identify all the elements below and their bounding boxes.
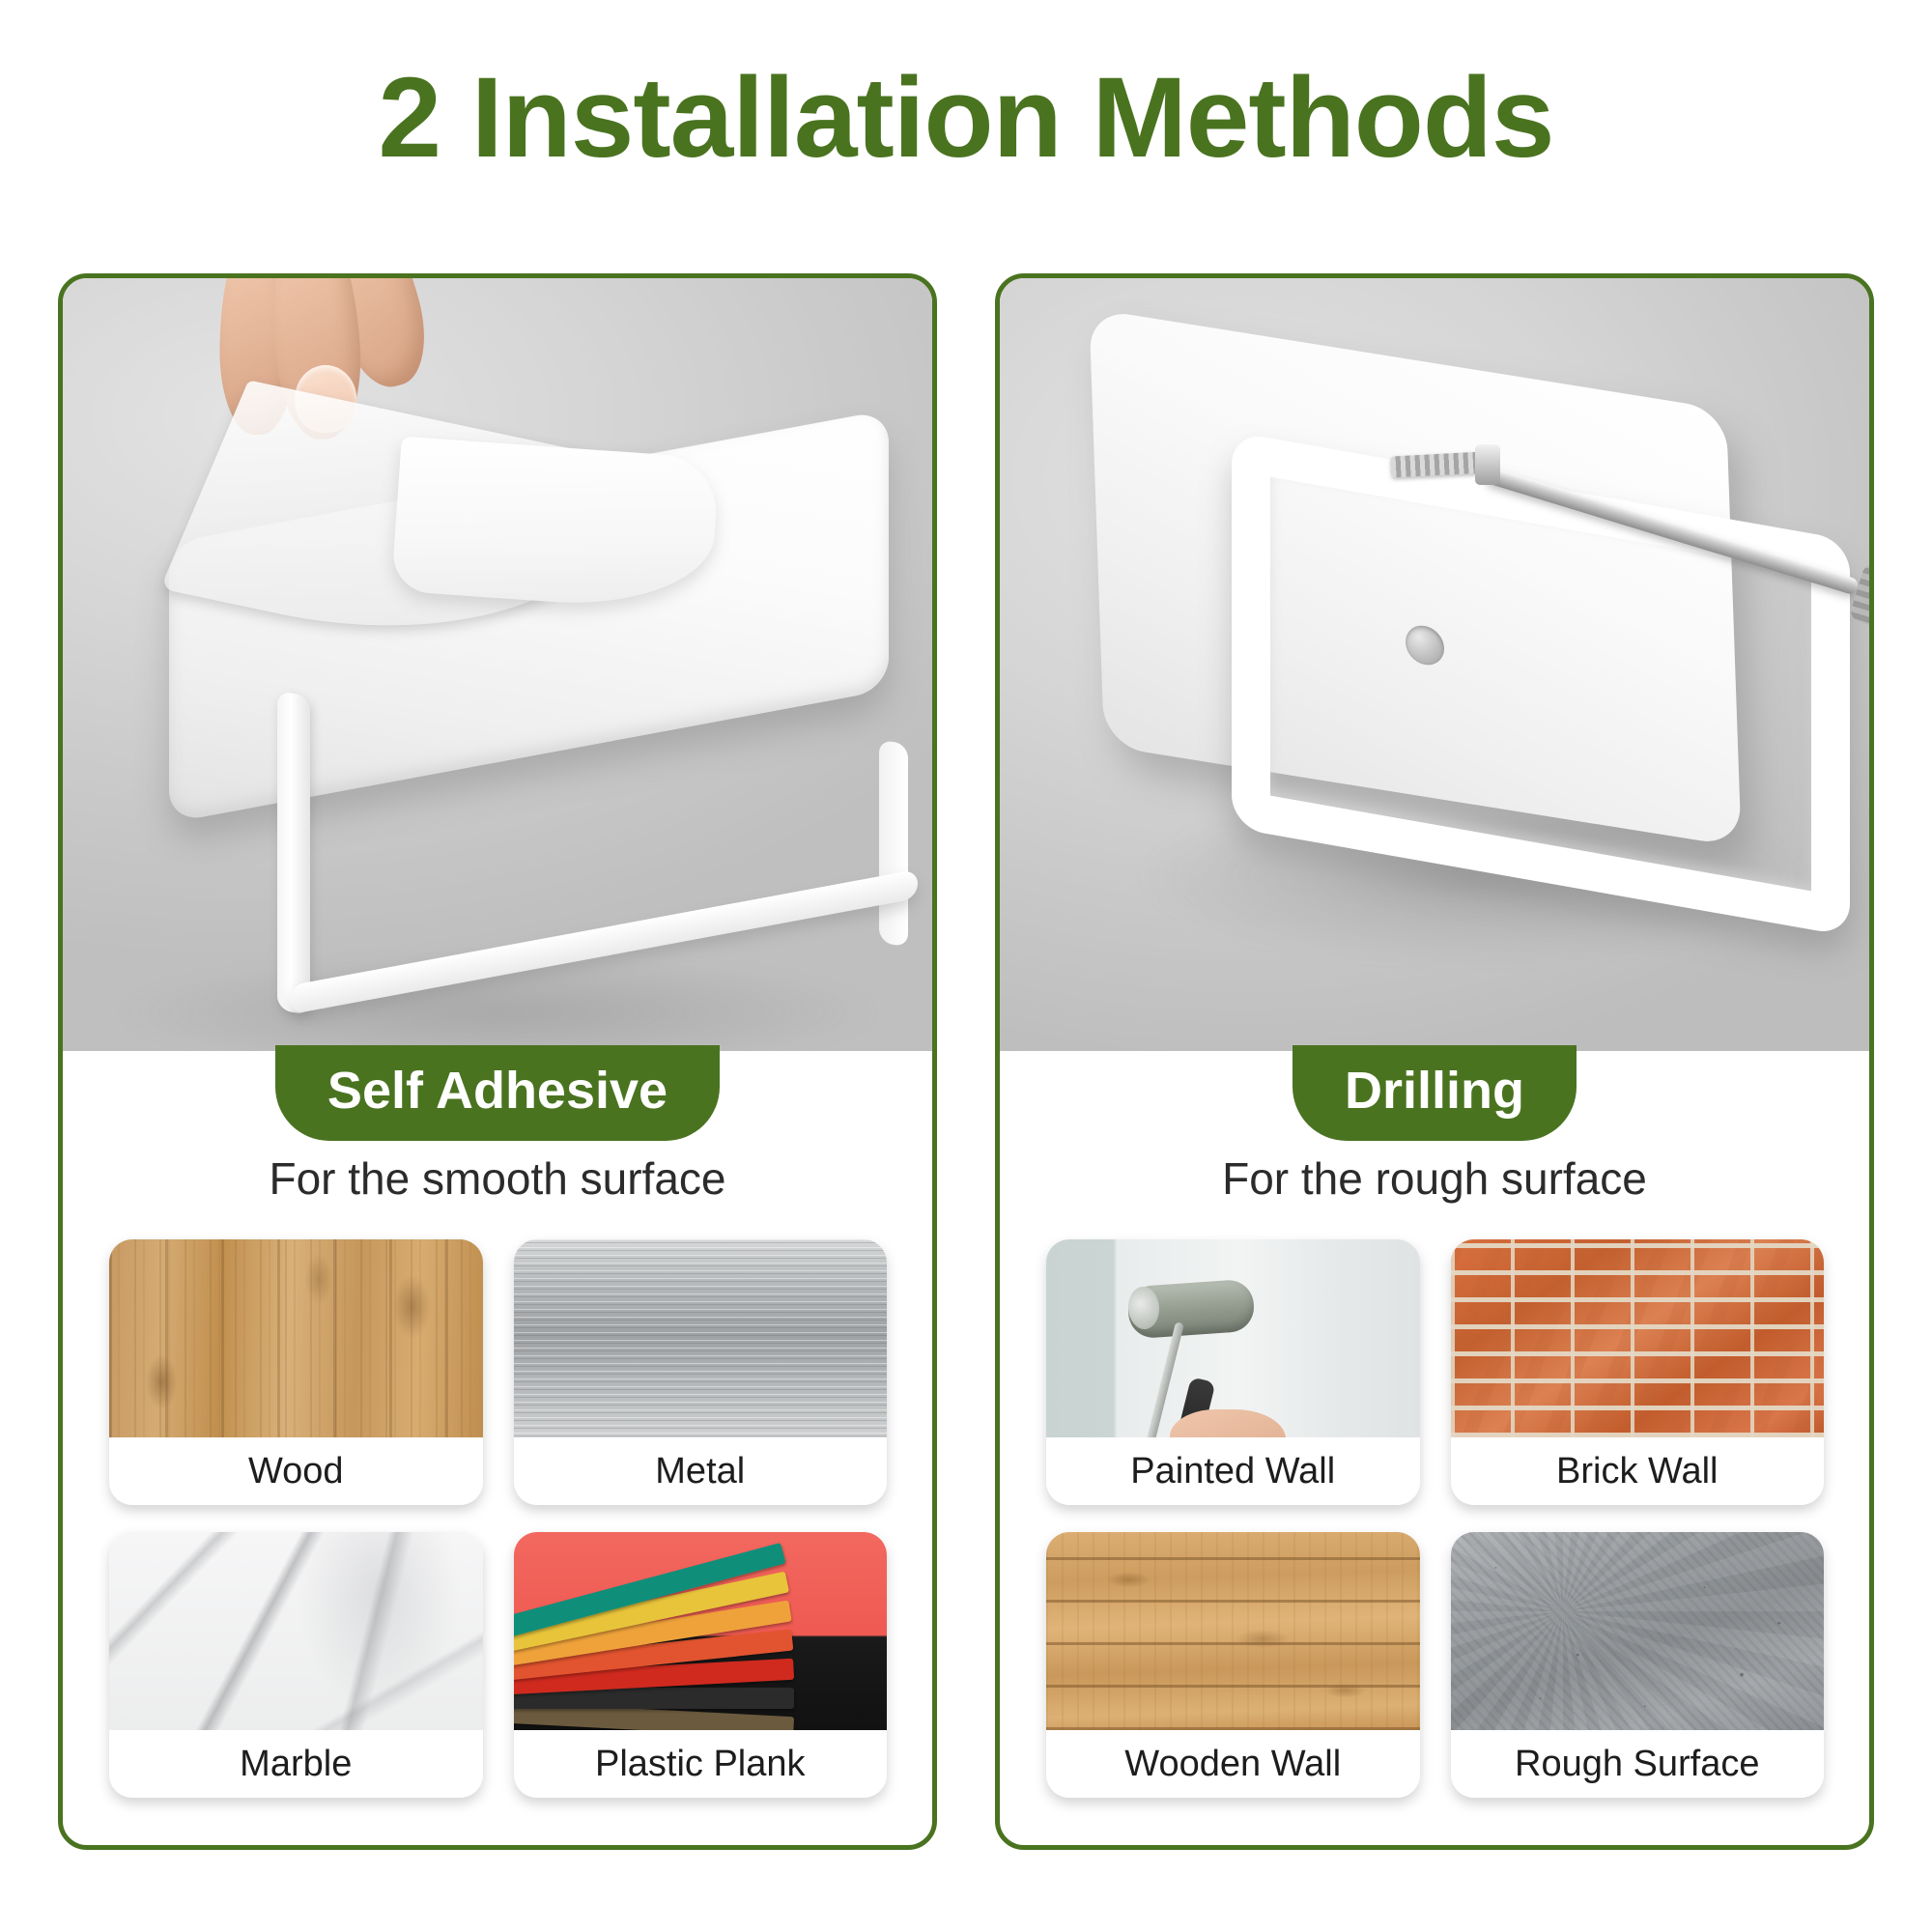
wooden-plank-texture-icon — [1046, 1532, 1420, 1730]
material-label-plastic-plank: Plastic Plank — [514, 1730, 888, 1798]
painted-wall-texture-icon — [1046, 1239, 1420, 1437]
material-label-marble: Marble — [109, 1730, 483, 1798]
material-label-painted-wall: Painted Wall — [1046, 1437, 1420, 1505]
method-panel-drilling: Drilling For the rough surface Painted W… — [995, 273, 1874, 1850]
methods-container: Self Adhesive For the smooth surface Woo… — [0, 273, 1932, 1858]
material-thumb-metal — [514, 1239, 888, 1437]
material-label-metal: Metal — [514, 1437, 888, 1505]
badge-row-drilling: Drilling — [1000, 1051, 1869, 1141]
material-thumb-wooden-wall — [1046, 1532, 1420, 1730]
material-thumb-plastic-plank — [514, 1532, 888, 1730]
material-card-wood[interactable]: Wood — [109, 1239, 483, 1505]
screw-head-icon — [1475, 444, 1500, 485]
material-card-marble[interactable]: Marble — [109, 1532, 483, 1798]
material-card-plastic-plank[interactable]: Plastic Plank — [514, 1532, 888, 1798]
subtitle-self-adhesive: For the smooth surface — [63, 1152, 932, 1205]
material-grid-drilling: Painted Wall Brick Wall Wooden Wall Roug… — [1046, 1239, 1824, 1798]
material-thumb-brick-wall — [1451, 1239, 1825, 1437]
material-thumb-painted-wall — [1046, 1239, 1420, 1437]
material-card-painted-wall[interactable]: Painted Wall — [1046, 1239, 1420, 1505]
material-card-brick-wall[interactable]: Brick Wall — [1451, 1239, 1825, 1505]
badge-drilling: Drilling — [1293, 1045, 1577, 1141]
wood-texture-icon — [109, 1239, 483, 1437]
metal-texture-icon — [514, 1239, 888, 1437]
material-thumb-rough-surface — [1451, 1532, 1825, 1730]
material-thumb-marble — [109, 1532, 483, 1730]
marble-texture-icon — [109, 1532, 483, 1730]
screwdriver-collar — [1848, 561, 1869, 649]
material-thumb-wood — [109, 1239, 483, 1437]
subtitle-drilling: For the rough surface — [1000, 1152, 1869, 1205]
photo-self-adhesive — [63, 278, 932, 1051]
material-label-rough-surface: Rough Surface — [1451, 1730, 1825, 1798]
drilling-scene — [1000, 278, 1869, 1051]
badge-self-adhesive: Self Adhesive — [275, 1045, 720, 1141]
material-label-wooden-wall: Wooden Wall — [1046, 1730, 1420, 1798]
brick-texture-icon — [1451, 1239, 1825, 1437]
holder-bar-bottom — [290, 869, 918, 1014]
plastic-sheets-icon — [514, 1532, 888, 1730]
adhesive-scene — [63, 278, 932, 1051]
rough-concrete-texture-icon — [1451, 1532, 1825, 1730]
material-label-wood: Wood — [109, 1437, 483, 1505]
material-grid-self-adhesive: Wood Metal Marble Plastic Plank — [109, 1239, 887, 1798]
method-panel-self-adhesive: Self Adhesive For the smooth surface Woo… — [58, 273, 937, 1850]
photo-drilling — [1000, 278, 1869, 1051]
material-card-metal[interactable]: Metal — [514, 1239, 888, 1505]
badge-row-self-adhesive: Self Adhesive — [63, 1051, 932, 1141]
material-card-wooden-wall[interactable]: Wooden Wall — [1046, 1532, 1420, 1798]
holder-bar-left — [277, 691, 310, 1015]
page-title: 2 Installation Methods — [0, 56, 1932, 182]
holder-bar-right — [879, 739, 908, 947]
material-label-brick-wall: Brick Wall — [1451, 1437, 1825, 1505]
material-card-rough-surface[interactable]: Rough Surface — [1451, 1532, 1825, 1798]
